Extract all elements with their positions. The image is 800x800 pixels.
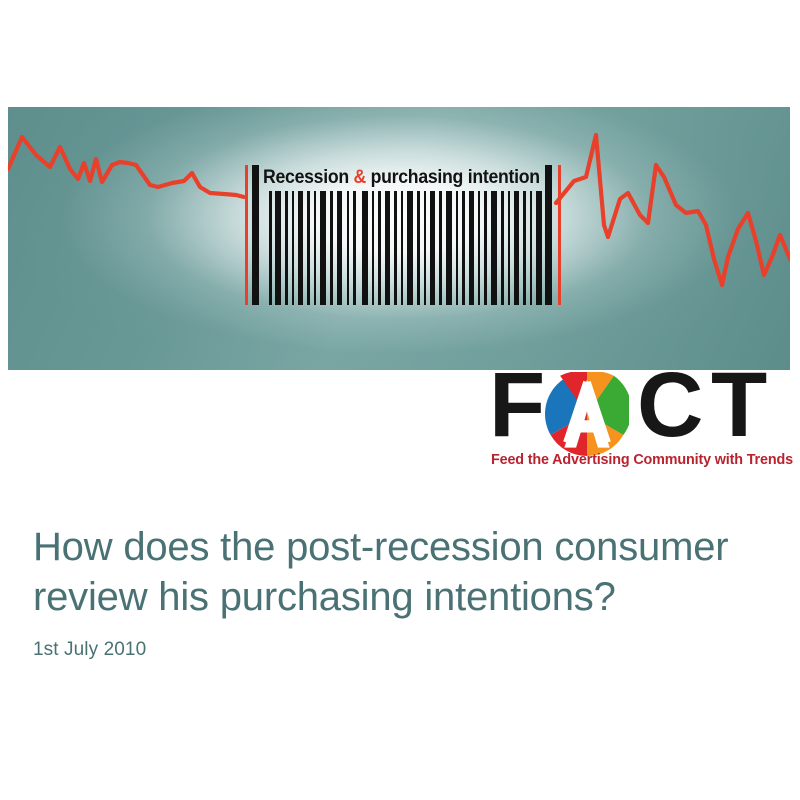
page-title: How does the post-recession consumer rev… <box>33 522 763 622</box>
banner-background: Recession & purchasing intention <box>8 107 790 370</box>
index-line-left <box>8 137 244 197</box>
fact-letter-f: F <box>489 364 543 446</box>
fact-logo: F <box>489 370 793 480</box>
banner-image: Recession & purchasing intention <box>8 107 790 370</box>
slide-date: 1st July 2010 <box>33 638 763 662</box>
fact-circular-a-mark <box>545 372 629 456</box>
barcode-guard-red-left <box>245 165 248 305</box>
barcode-guard-red-right <box>558 165 561 305</box>
presentation-slide: Recession & purchasing intention <box>0 0 800 800</box>
barcode-bars <box>267 191 550 305</box>
fact-letter-t: T <box>711 364 765 446</box>
barcode-guard-black-left <box>252 165 259 305</box>
fact-letter-c: C <box>637 364 701 446</box>
barcode-label-ampersand: & <box>354 167 366 188</box>
index-line-right <box>556 135 790 285</box>
barcode-label-prefix: Recession <box>263 167 354 188</box>
barcode-label-suffix: purchasing intention <box>366 167 540 188</box>
title-block: How does the post-recession consumer rev… <box>33 522 763 662</box>
barcode-label: Recession & purchasing intention <box>263 165 535 191</box>
fact-wordmark: F <box>489 370 793 452</box>
barcode-graphic: Recession & purchasing intention <box>245 165 565 305</box>
fact-tagline: Feed the Advertising Community with Tren… <box>491 452 788 468</box>
